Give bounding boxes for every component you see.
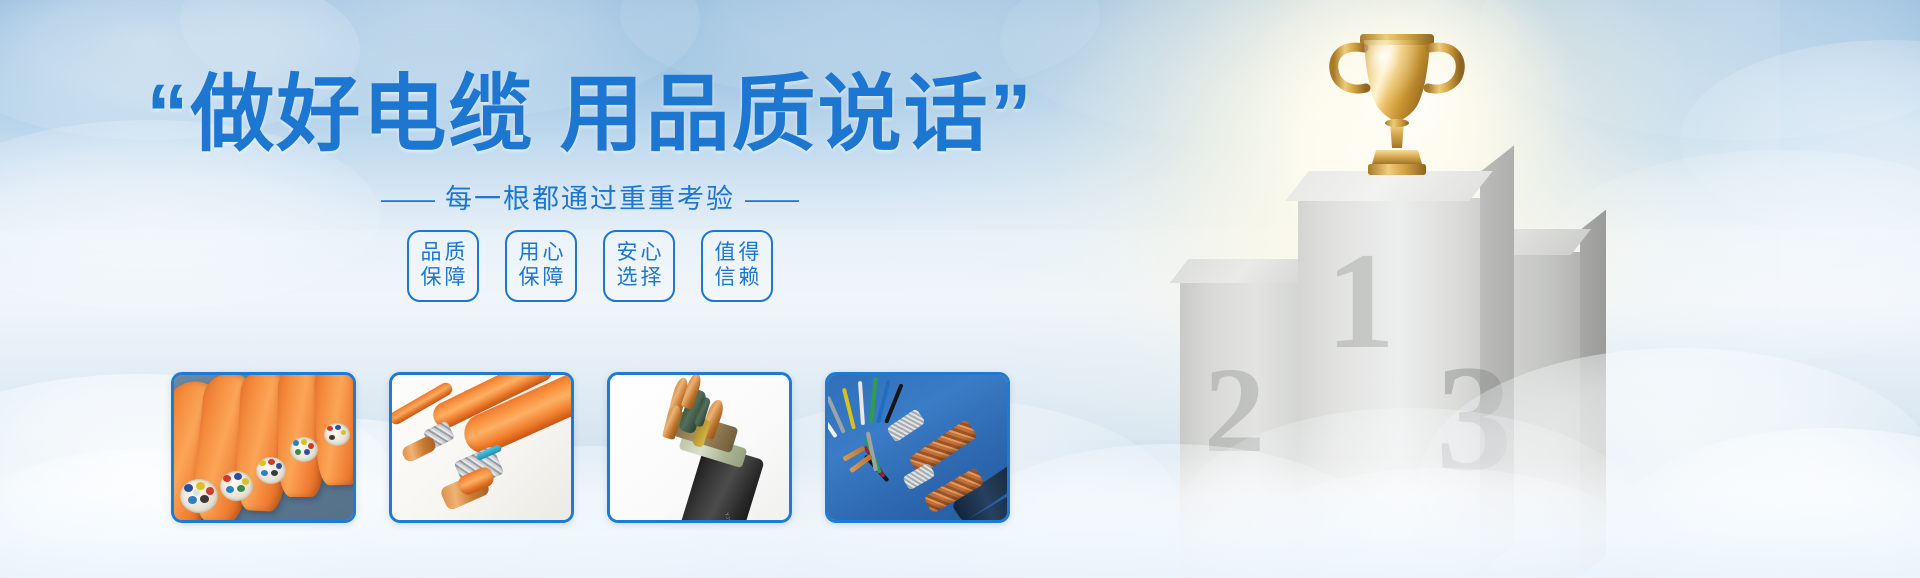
badge-line-1: 值得 [712,241,763,266]
product-card[interactable]: YJV [607,372,792,523]
subtitle-text: 每一根都通过重重考验 [445,184,735,214]
product-card[interactable] [389,372,574,523]
badge-confident-choice[interactable]: 安心 选择 [603,230,675,302]
subtitle: ——每一根都通过重重考验—— [0,186,1180,213]
product-image-copper-conductor [392,375,571,520]
feature-badges: 品质 保障 用心 保障 安心 选择 值得 信赖 [0,230,1180,302]
promo-banner: 1 2 3 [0,0,1920,578]
badge-trustworthy[interactable]: 值得 信赖 [701,230,773,302]
product-image-orange-multicore [174,375,353,520]
badge-quality-guarantee[interactable]: 品质 保障 [407,230,479,302]
product-image-armoured-cable: YJV [610,375,789,520]
podium-number-1: 1 [1326,232,1395,370]
podium-number-3: 3 [1436,342,1512,494]
badge-line-2: 保障 [418,266,469,291]
product-card[interactable] [171,372,356,523]
badge-line-2: 信赖 [712,266,763,291]
product-image-shielded-control-cable: AKD [828,375,1007,520]
product-card[interactable]: AKD [825,372,1010,523]
podium-number-2: 2 [1204,350,1265,472]
subtitle-dash-left: —— [381,184,435,214]
subtitle-dash-right: —— [745,184,799,214]
badge-line-1: 用心 [516,241,567,266]
product-card-row: YJV [0,372,1180,523]
badge-line-2: 保障 [516,266,567,291]
badge-dedication-guarantee[interactable]: 用心 保障 [505,230,577,302]
badge-line-2: 选择 [614,266,665,291]
trophy-icon [1322,22,1472,207]
badge-line-1: 品质 [418,241,469,266]
headline: “做好电缆 用品质说话” [0,72,1180,156]
podium-and-trophy: 1 2 3 [1180,20,1700,578]
badge-line-1: 安心 [614,241,665,266]
